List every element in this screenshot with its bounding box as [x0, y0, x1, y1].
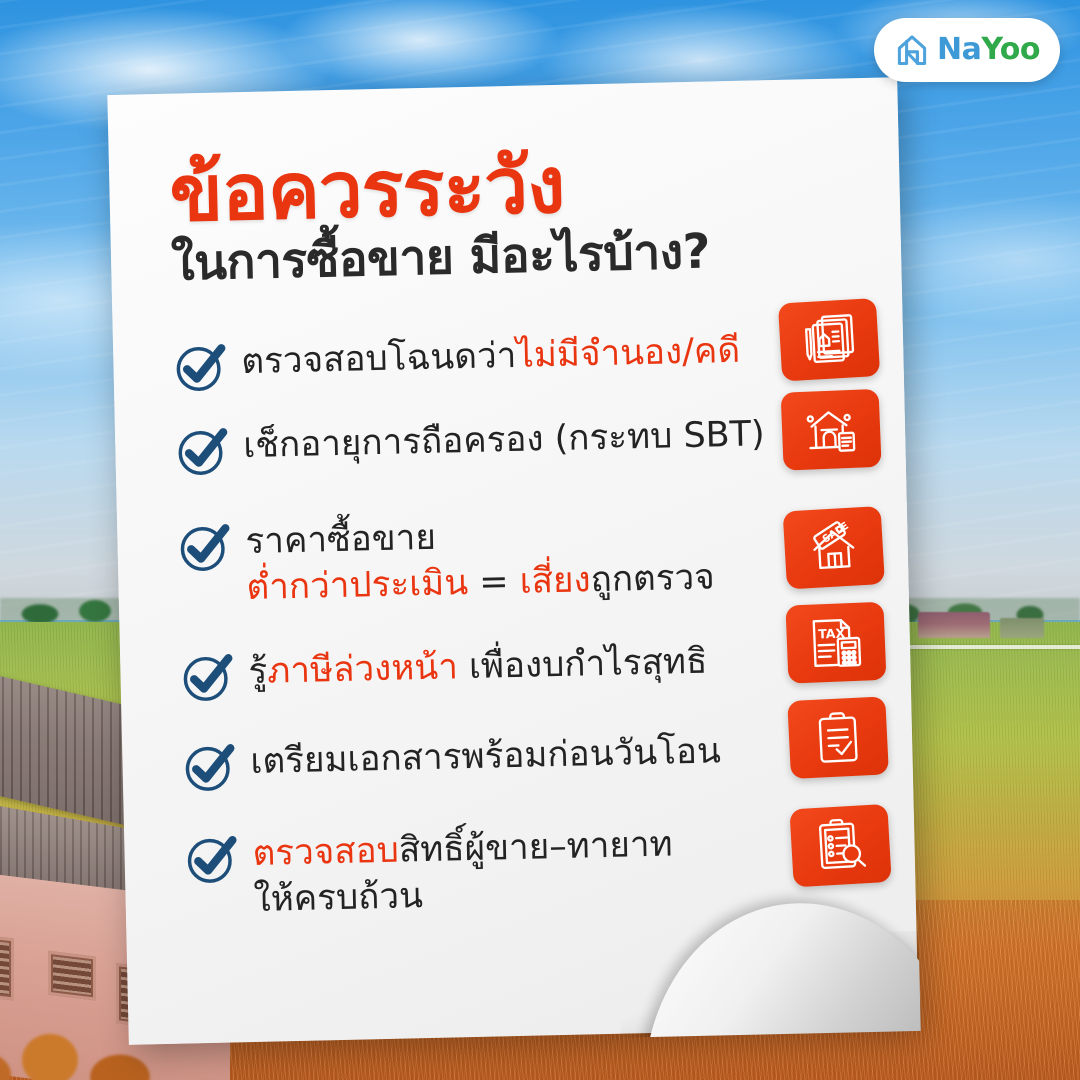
deed-document-icon — [796, 307, 861, 372]
badge-house-document — [781, 389, 882, 471]
item3-text-c: เสี่ยง — [519, 560, 591, 602]
page-subtitle: ในการซื้อขาย มีอะไรบ้าง? — [171, 222, 832, 291]
check-circle-icon — [173, 339, 228, 394]
list-item-text: ตรวจสอบโฉนดว่าไม่มีจำนอง/คดี — [241, 326, 741, 386]
list-item-text: ราคาซื้อขายต่ำกว่าประเมิน = เสี่ยงถูกตรว… — [245, 506, 715, 611]
house-window-2 — [48, 951, 96, 1001]
info-card: ข้อควรระวัง ในการซื้อขาย มีอะไรบ้าง? ตรว… — [107, 77, 918, 1045]
item5-text-a: เตรียมเอกสารพร้อมก่อนวันโอน — [250, 731, 721, 782]
house-document-icon — [799, 398, 863, 462]
item6-line2: ให้ครบถ้วน — [253, 868, 674, 923]
item2-text-a: เช็กอายุการถือครอง (กระทบ SBT) — [243, 414, 765, 466]
house-sale-tag-icon: SALE — [801, 515, 866, 580]
item3-text-d: ถูกตรวจ — [590, 557, 715, 600]
badge-deed-document — [778, 298, 880, 382]
house-window-1 — [0, 928, 14, 1000]
item3-text-a: ราคาซื้อขาย — [245, 518, 436, 562]
logo-text-na: Na — [937, 32, 981, 67]
check-circle-icon — [180, 649, 235, 704]
list-item: ตรวจสอบสิทธิ์ผู้ขาย–ทายาทให้ครบถ้วน — [184, 817, 796, 925]
title-block: ข้อควรระวัง ในการซื้อขาย มีอะไรบ้าง? — [169, 141, 832, 291]
icon-badge-column: SALE TAX — [779, 299, 912, 886]
badge-clipboard-search — [789, 804, 891, 888]
logo-text-yoo: Yoo — [981, 32, 1040, 67]
item4-text-b: ภาษีล่วงหน้า — [267, 647, 458, 691]
checklist: ตรวจสอบโฉนดว่าไม่มีจำนอง/คดี เช็กอายุการ… — [173, 325, 796, 925]
clipboard-search-icon — [808, 813, 873, 878]
list-item: รู้ภาษีล่วงหน้า เพื่องบกำไรสุทธิ — [180, 635, 791, 705]
house-n-logo-icon — [894, 32, 930, 68]
item1-text-a: ตรวจสอบโฉนดว่า — [241, 336, 517, 382]
item3-text-b: ต่ำกว่าประเมิน — [246, 563, 469, 608]
check-circle-icon — [182, 739, 237, 794]
item3-line2: ต่ำกว่าประเมิน = เสี่ยงถูกตรวจ — [246, 555, 715, 611]
list-item: ราคาซื้อขายต่ำกว่าประเมิน = เสี่ยงถูกตรว… — [177, 505, 789, 613]
logo-wordmark: NaYoo — [937, 35, 1040, 65]
item4-text-c: เพื่องบกำไรสุทธิ — [457, 642, 707, 688]
list-item: เตรียมเอกสารพร้อมก่อนวันโอน — [182, 725, 793, 795]
nayoo-logo[interactable]: NaYoo — [874, 18, 1060, 82]
item6-text-a: ตรวจสอบ — [252, 831, 399, 874]
tax-calculator-icon: TAX — [804, 610, 868, 674]
list-item: เช็กอายุการถือครอง (กระทบ SBT) — [175, 409, 786, 479]
item1-text-b: ไม่มีจำนอง/คดี — [516, 331, 741, 376]
page-title: ข้อควรระวัง — [169, 141, 831, 236]
list-item: ตรวจสอบโฉนดว่าไม่มีจำนอง/คดี — [173, 325, 784, 395]
check-circle-icon — [184, 831, 239, 886]
distant-building-right — [918, 612, 990, 638]
list-item-text: เตรียมเอกสารพร้อมก่อนวันโอน — [250, 726, 721, 785]
badge-house-sale: SALE — [783, 506, 885, 590]
check-circle-icon — [177, 519, 232, 574]
badge-clipboard-check — [787, 696, 889, 779]
list-item-text: เช็กอายุการถือครอง (กระทบ SBT) — [243, 409, 765, 469]
item4-text-a: รู้ — [248, 652, 268, 692]
clipboard-check-icon — [806, 705, 871, 770]
item6-text-b: สิทธิ์ผู้ขาย–ทายาท — [398, 824, 673, 870]
list-item-text: รู้ภาษีล่วงหน้า เพื่องบกำไรสุทธิ — [248, 637, 708, 696]
check-circle-icon — [175, 423, 230, 478]
distant-building-right-2 — [1000, 618, 1044, 638]
item3-text-mid: = — [468, 561, 520, 602]
page-curl-shadow — [619, 931, 921, 1038]
list-item-text: ตรวจสอบสิทธิ์ผู้ขาย–ทายาทให้ครบถ้วน — [252, 819, 674, 923]
field-fence-line — [900, 645, 1080, 649]
badge-tax-calculator: TAX — [785, 602, 886, 684]
